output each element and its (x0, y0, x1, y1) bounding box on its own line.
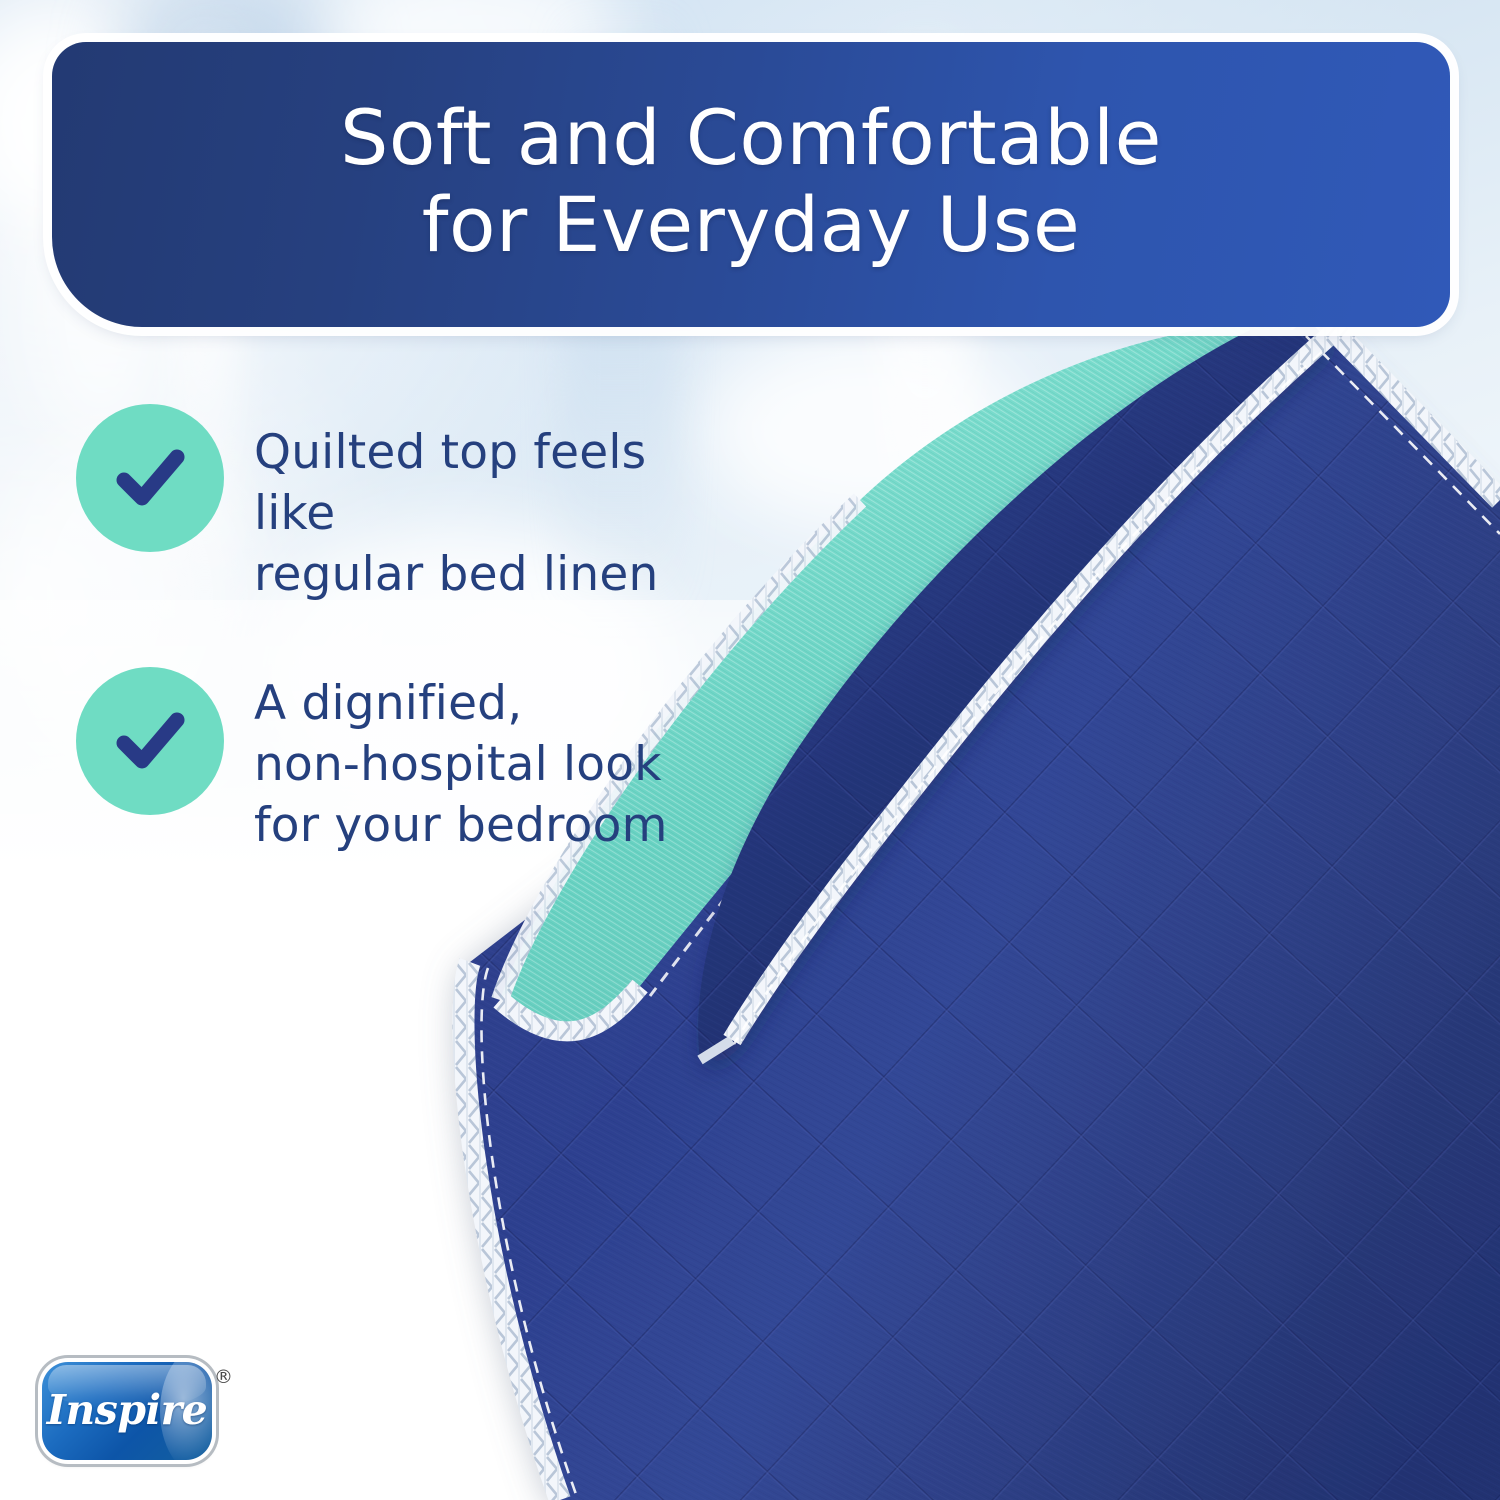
logo-wordmark: Inspire (42, 1386, 212, 1434)
benefit-item-dignified-look: A dignified, non-hospital look for your … (76, 667, 736, 856)
header-banner: Soft and Comfortable for Everyday Use (52, 42, 1450, 327)
product-marketing-image: Soft and Comfortable for Everyday Use Qu… (0, 0, 1500, 1500)
logo-badge: Inspire (42, 1362, 212, 1460)
check-icon (76, 667, 224, 815)
benefit-item-quilted-top: Quilted top feels like regular bed linen (76, 404, 736, 605)
brand-logo: Inspire ® (42, 1362, 242, 1470)
check-icon (76, 404, 224, 552)
benefits-list: Quilted top feels like regular bed linen… (76, 404, 736, 919)
benefit-label: Quilted top feels like regular bed linen (254, 404, 736, 605)
banner-title-line-1: Soft and Comfortable (340, 95, 1162, 182)
benefit-label: A dignified, non-hospital look for your … (254, 667, 668, 856)
banner-title-line-2: for Everyday Use (422, 182, 1081, 269)
background-bokeh-blob (700, 330, 1030, 530)
registered-trademark-icon: ® (214, 1366, 233, 1388)
